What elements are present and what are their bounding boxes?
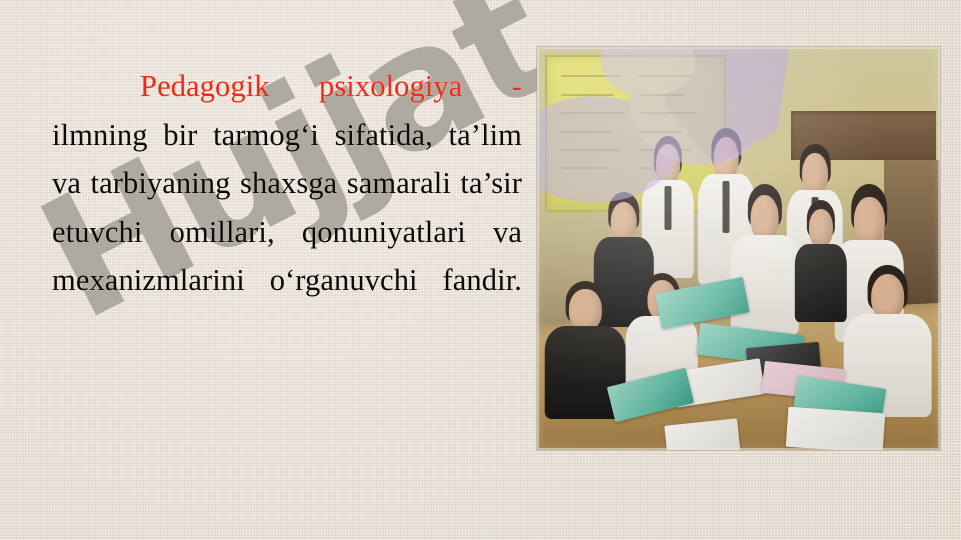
photo-book [786,406,885,450]
classroom-photo [537,47,940,450]
photo-student [795,200,847,345]
slide-title-phrase: Pedagogik psixologiya - [140,69,522,103]
slide-body-text: ilmning bir tarmog‘i sifatida, ta’lim va… [52,118,522,298]
presentation-slide: Hujjat [0,0,961,540]
slide-paragraph: Pedagogik psixologiya - ilmning bir tarm… [52,62,522,305]
slide-text-block: Pedagogik psixologiya - ilmning bir tarm… [52,62,522,305]
